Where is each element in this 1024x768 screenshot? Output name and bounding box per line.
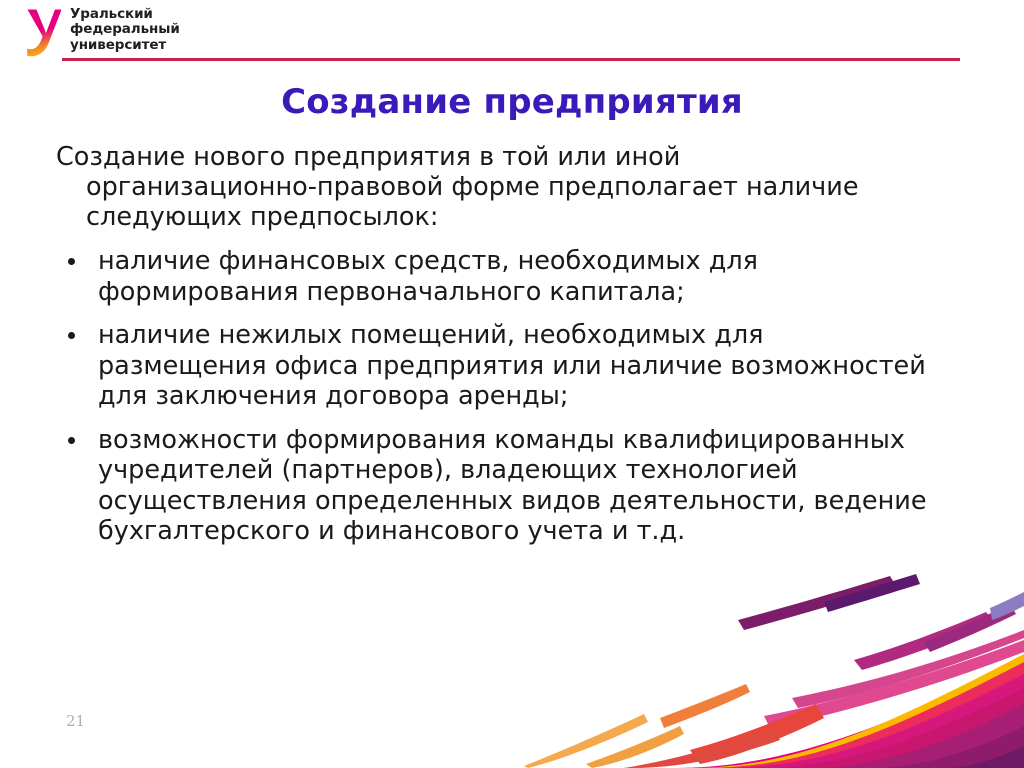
bullet-3-line-4: бухгалтерского и финансового учета и т.д…: [98, 516, 996, 547]
header-divider: [62, 58, 960, 61]
page-title: Создание предприятия: [62, 82, 962, 122]
slide-body: Создание нового предприятия в той или ин…: [56, 142, 996, 560]
list-item: возможности формирования команды квалифи…: [56, 425, 996, 547]
bullet-2-line-3: для заключения договора аренды;: [98, 381, 996, 412]
corner-ribbon-graphic: [524, 568, 1024, 768]
page-number: 21: [66, 712, 85, 730]
bullet-1-line-2: формирования первоначального капитала;: [98, 277, 996, 308]
bullet-dot-icon: [68, 437, 75, 444]
lead-line-2: организационно-правовой форме предполага…: [66, 172, 996, 202]
wordmark-line-2: федеральный: [70, 22, 180, 37]
ural-federal-university-mark-icon: [22, 6, 62, 58]
bullet-1-line-1: наличие финансовых средств, необходимых …: [98, 246, 996, 277]
wordmark-line-3: университет: [70, 38, 180, 53]
lead-paragraph: Создание нового предприятия в той или ин…: [56, 142, 996, 232]
list-item: наличие финансовых средств, необходимых …: [56, 246, 996, 307]
bullet-dot-icon: [68, 258, 75, 265]
lead-line-1: Создание нового предприятия в той или ин…: [66, 142, 996, 172]
lead-line-3: следующих предпосылок:: [66, 202, 996, 232]
bullet-3-line-2: учредителей (партнеров), владеющих техно…: [98, 455, 996, 486]
bullet-2-line-2: размещения офиса предприятия или наличие…: [98, 351, 996, 382]
slide-canvas: Уральский федеральный университет Создан…: [0, 0, 1024, 768]
bullet-3-line-3: осуществления определенных видов деятель…: [98, 486, 996, 517]
wordmark-line-1: Уральский: [70, 7, 180, 22]
slide-header: Уральский федеральный университет: [0, 0, 1024, 70]
prerequisites-list: наличие финансовых средств, необходимых …: [56, 246, 996, 547]
list-item: наличие нежилых помещений, необходимых д…: [56, 320, 996, 412]
bullet-dot-icon: [68, 332, 75, 339]
bullet-3-line-1: возможности формирования команды квалифи…: [98, 425, 996, 456]
university-logo: Уральский федеральный университет: [22, 6, 180, 58]
bullet-2-line-1: наличие нежилых помещений, необходимых д…: [98, 320, 996, 351]
university-wordmark: Уральский федеральный университет: [70, 7, 180, 53]
